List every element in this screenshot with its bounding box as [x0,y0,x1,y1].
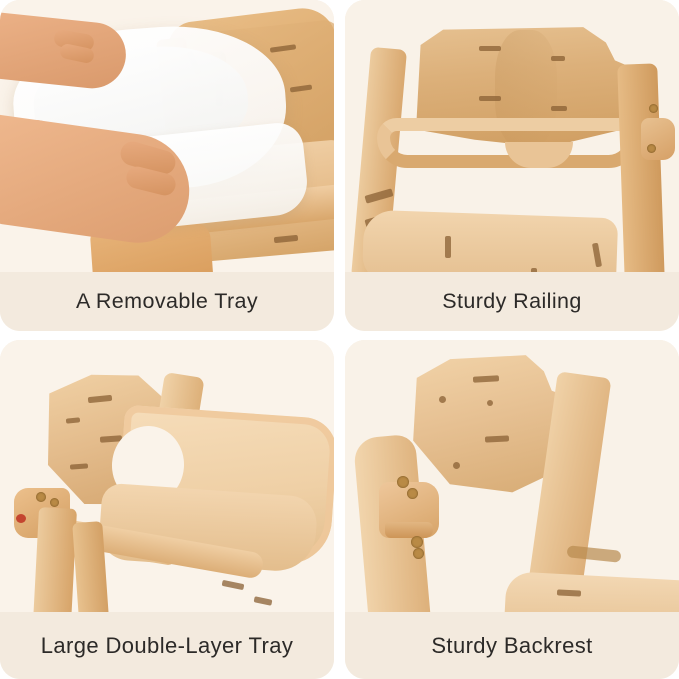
feature-grid: A Removable Tray [0,0,679,679]
screw-icon [411,536,423,548]
feature-card-sturdy-railing[interactable]: Sturdy Railing [345,0,679,331]
screw-icon [649,104,658,113]
feature-photo-removable-tray [0,0,334,272]
feature-caption-label: Large Double-Layer Tray [41,633,294,659]
screw-hole-icon [439,396,446,403]
photo-stage [345,340,679,612]
harness-slot-icon [479,46,501,51]
feature-caption-bar: Large Double-Layer Tray [0,612,334,679]
screw-icon [50,498,59,507]
harness-slot-icon [479,96,501,101]
slot-icon [445,236,451,258]
harness-slot-icon [551,106,567,111]
screw-icon [413,548,424,559]
harness-slot-icon [485,435,509,442]
slot-icon [531,268,537,272]
chair-leg-left [33,507,77,612]
feature-caption-label: Sturdy Railing [442,289,581,314]
feature-photo-double-layer-tray [0,340,334,612]
feature-card-sturdy-backrest[interactable]: Sturdy Backrest [345,340,679,679]
release-button [16,514,26,523]
photo-stage [0,340,334,612]
feature-card-removable-tray[interactable]: A Removable Tray [0,0,334,331]
chair-leg-right [617,63,665,272]
screw-hole-icon [487,400,493,406]
feature-caption-bar: Sturdy Backrest [345,612,679,679]
slot-icon [557,589,581,596]
feature-card-large-double-layer-tray[interactable]: Large Double-Layer Tray [0,340,334,679]
feature-photo-sturdy-railing [345,0,679,272]
screw-icon [407,488,418,499]
clamp-lip [385,522,433,538]
feature-caption-bar: Sturdy Railing [345,272,679,331]
railing-mount-knob [641,118,675,160]
feature-photo-sturdy-backrest [345,340,679,612]
chair-seat [362,210,618,272]
photo-stage [0,0,334,272]
feature-caption-label: A Removable Tray [76,289,258,314]
harness-slot-icon [551,56,565,61]
screw-hole-icon [453,462,460,469]
screw-icon [36,492,46,502]
screw-icon [647,144,656,153]
screw-icon [397,476,409,488]
photo-stage [345,0,679,272]
feature-caption-bar: A Removable Tray [0,272,334,331]
feature-caption-label: Sturdy Backrest [431,633,592,659]
